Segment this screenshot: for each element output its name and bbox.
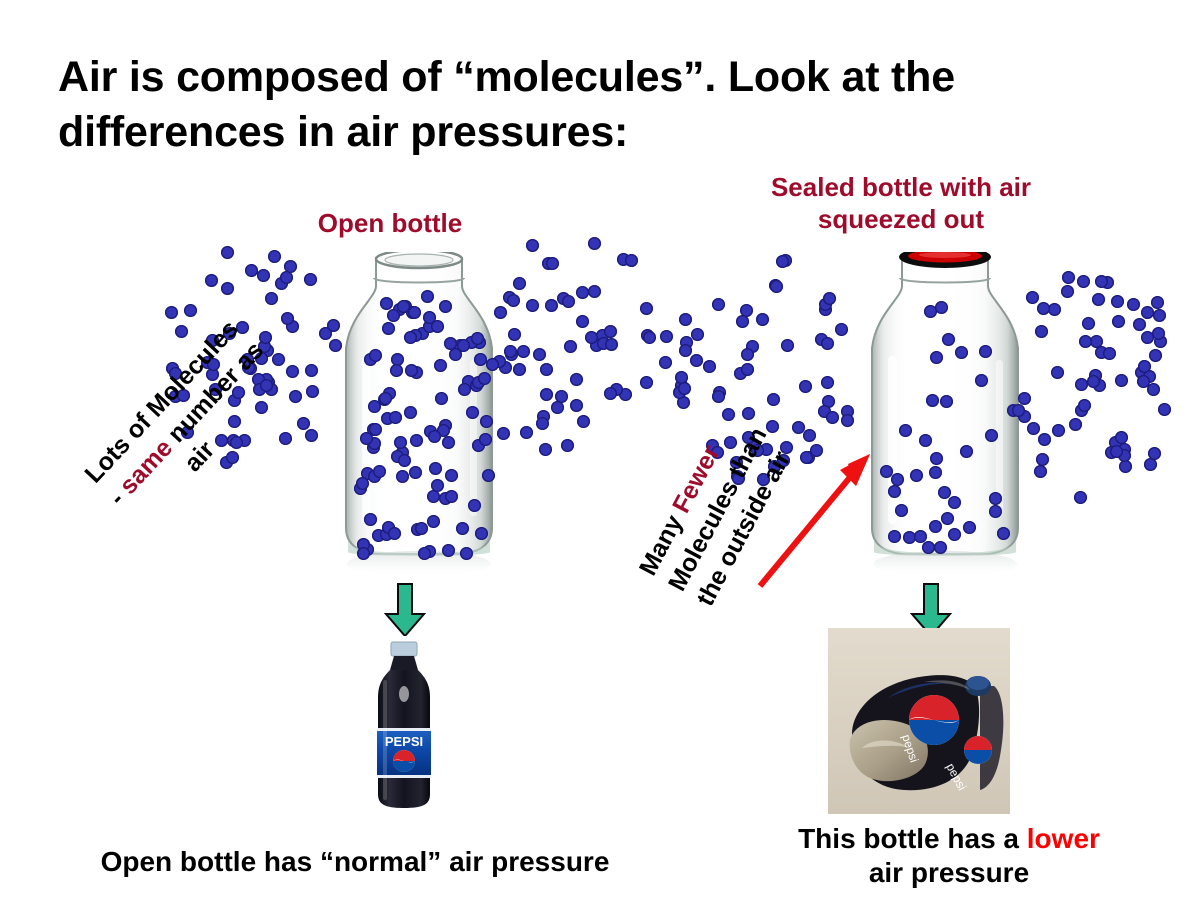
molecule-dot [434,359,447,372]
molecule-dot [442,544,455,557]
molecule-dot [619,388,632,401]
molecule-dot [610,383,623,396]
green-down-arrow-icon [384,582,426,638]
molecule-dot [821,376,834,389]
molecule-dot [675,379,688,392]
molecule-dot [1153,309,1166,322]
molecule-dot [576,286,589,299]
molecule-dot [286,320,299,333]
molecule-dot [677,396,690,409]
molecule-dot [819,303,832,316]
molecule-dot [475,527,488,540]
molecule-dot [1052,424,1065,437]
molecule-dot [899,424,912,437]
molecule-dot [468,499,481,512]
molecule-dot [281,312,294,325]
molecule-dot [948,496,961,509]
molecule-dot [1061,285,1074,298]
molecule-dot [1089,369,1102,382]
molecule-dot [357,547,370,560]
molecule-dot [1077,275,1090,288]
molecule-dot [279,432,292,445]
molecule-dot [297,417,310,430]
molecule-dot [474,353,487,366]
molecule-dot [1158,403,1171,416]
molecule-dot [776,255,789,268]
crushed-pepsi-bottle-photo: pepsi pepsi [828,628,1010,814]
molecule-dot [373,465,386,478]
molecule-dot [394,436,407,449]
molecule-dot [540,363,553,376]
molecule-dot [1149,349,1162,362]
molecule-dot [1154,335,1167,348]
molecule-dot [989,492,1002,505]
molecule-dot [948,528,961,541]
molecule-dot [410,434,423,447]
molecule-dot [396,470,409,483]
molecule-dot [280,271,293,284]
molecule-dot [588,237,601,250]
molecule-dot [1141,306,1154,319]
molecule-dot [1069,418,1082,431]
molecule-dot [551,401,564,414]
molecule-dot [275,277,288,290]
molecule-dot [604,325,617,338]
molecule-dot [421,290,434,303]
molecule-dot [1048,303,1061,316]
molecule-dot [404,331,417,344]
molecule-dot [742,407,755,420]
molecule-dot [963,521,976,534]
molecule-dot [640,302,653,315]
molecule-dot [387,309,400,322]
molecule-dot [640,376,653,389]
molecule-dot [740,304,753,317]
molecule-dot [423,311,436,324]
molecule-dot [888,485,901,498]
molecule-dot [792,421,805,434]
molecule-dot [259,331,272,344]
molecule-dot [570,373,583,386]
molecule-dot [1078,399,1091,412]
molecule-dot [766,420,779,433]
pepsi-wordmark: PEPSI [385,734,423,749]
molecule-dot [673,386,686,399]
molecule-dot [545,299,558,312]
molecule-dot [536,417,549,430]
molecule-dot [822,395,835,408]
molecule-dot [746,340,759,353]
molecule-dot [265,292,278,305]
molecule-dot [380,297,393,310]
molecule-dot [533,348,546,361]
right-bottom-caption: This bottle has a lower air pressure [716,822,1182,890]
molecule-dot [888,530,901,543]
molecule-dot [821,337,834,350]
molecule-dot [1118,443,1131,456]
molecule-dot [431,479,444,492]
molecule-dot [975,374,988,387]
molecule-dot [1095,275,1108,288]
molecule-dot [482,469,495,482]
molecule-dot [284,260,297,273]
molecule-dot [429,462,442,475]
molecule-dot [1137,375,1150,388]
molecule-dot [675,371,688,384]
left-bottom-caption: Open bottle has “normal” air pressure [30,845,680,879]
molecule-dot [955,346,968,359]
molecule-dot [562,295,575,308]
molecule-dot [891,473,904,486]
molecule-dot [929,466,942,479]
molecule-dot [1127,298,1140,311]
right-heading-line2: squeezed out [818,204,984,234]
molecule-dot [1105,446,1118,459]
molecule-dot [679,344,692,357]
molecule-dot [659,356,672,369]
molecule-dot [919,434,932,447]
molecule-dot [470,379,483,392]
molecule-dot [660,330,673,343]
molecule-dot [221,246,234,259]
molecule-dot [561,439,574,452]
molecule-dot [1062,271,1075,284]
molecule-dot [741,363,754,376]
molecule-dot [540,388,553,401]
molecule-dot [1082,317,1095,330]
molecule-dot [604,387,617,400]
molecule-dot [542,257,555,270]
molecule-dot [557,292,570,305]
molecule-dot [818,405,831,418]
slide-canvas: Air is composed of “molecules”. Look at … [0,0,1198,898]
molecule-dot [712,390,725,403]
molecule-dot [997,527,1010,540]
molecule-dot [1152,327,1165,340]
molecule-dot [770,280,783,293]
right-caption-emphasis: lower [1027,823,1100,854]
molecule-dot [1119,460,1132,473]
molecule-dot [741,348,754,361]
molecule-dot [679,313,692,326]
molecule-dot [597,337,610,350]
molecule-dot [680,336,693,349]
molecule-dot [1147,383,1160,396]
molecule-dot [1115,374,1128,387]
molecule-dot [442,436,455,449]
molecule-dot [690,354,703,367]
molecule-dot [221,282,234,295]
molecule-dot [643,331,656,344]
molecule-dot [205,274,218,287]
right-heading-line1: Sealed bottle with air [771,172,1031,202]
molecule-dot [1090,335,1103,348]
molecule-dot [408,306,421,319]
molecule-dot [1115,431,1128,444]
molecule-dot [691,328,704,341]
molecule-dot [356,477,369,490]
molecule-dot [1051,366,1064,379]
molecule-dot [1118,449,1131,462]
molecule-dot [596,329,609,342]
molecule-dot [585,331,598,344]
molecule-dot [815,333,828,346]
molecule-dot [769,279,782,292]
molecule-dot [1079,335,1092,348]
molecule-dot [415,522,428,535]
molecule-dot [1148,447,1161,460]
molecule-dot [289,390,302,403]
molecule-dot [226,451,239,464]
left-annotation-note: Lots of Molecules - same number as air [78,313,294,535]
molecule-dot [960,445,973,458]
molecule-dot [369,349,382,362]
molecule-dot [555,390,568,403]
molecule-dot [245,264,258,277]
molecule-dot [1103,347,1116,360]
molecule-dot [736,315,749,328]
molecule-dot [360,432,373,445]
molecule-dot [404,406,417,419]
open-bottle-illustration [314,252,524,582]
molecule-dot [539,443,552,456]
molecule-dot [268,250,281,263]
red-pointer-arrow-icon [744,436,884,596]
molecule-dot [1092,293,1105,306]
molecule-dot [458,383,471,396]
molecule-dot [1109,436,1122,449]
molecule-dot [427,490,440,503]
molecule-dot [756,313,769,326]
molecule-dot [570,399,583,412]
molecule-dot [537,410,550,423]
intact-pepsi-bottle-photo: PEPSI [358,636,450,814]
molecule-dot [1095,346,1108,359]
molecule-dot [588,285,601,298]
molecule-dot [590,339,603,352]
molecule-dot [1111,295,1124,308]
molecule-dot [823,292,836,305]
molecule-dot [564,340,577,353]
molecule-dot [220,456,233,469]
molecule-dot [910,469,923,482]
molecule-dot [1151,296,1164,309]
molecule-dot [826,411,839,424]
molecule-dot [641,329,654,342]
molecule-dot [617,253,630,266]
molecule-dot [819,298,832,311]
molecule-dot [577,415,590,428]
molecule-dot [1141,331,1154,344]
molecule-dot [1135,366,1148,379]
molecule-dot [526,239,539,252]
molecule-dot [1093,379,1106,392]
molecule-dot [914,530,927,543]
left-panel-heading: Open bottle [240,208,540,240]
molecule-dot [767,393,780,406]
molecule-dot [1144,458,1157,471]
molecule-dot [713,386,726,399]
molecule-dot [1143,370,1156,383]
molecule-dot [405,364,418,377]
molecule-dot [930,452,943,465]
molecule-dot [576,315,589,328]
molecule-dot [1133,318,1146,331]
molecule-dot [734,367,747,380]
molecule-dot [165,306,178,319]
molecule-dot [625,254,638,267]
molecule-dot [712,298,725,311]
molecule-dot [1074,491,1087,504]
molecule-dot [379,392,392,405]
molecule-dot [1110,445,1123,458]
molecule-dot [799,380,812,393]
molecule-dot [175,325,188,338]
page-title: Air is composed of “molecules”. Look at … [58,50,1148,160]
molecule-dot [779,254,792,267]
molecule-dot [1087,375,1100,388]
molecule-dot [605,338,618,351]
molecule-dot [546,257,559,270]
molecule-dot [985,429,998,442]
molecule-dot [184,304,197,317]
right-panel-heading: Sealed bottle with air squeezed out [706,172,1096,235]
molecule-dot [1112,315,1125,328]
molecule-dot [1075,404,1088,417]
molecule-dot [479,433,492,446]
molecule-dot [703,360,716,373]
right-caption-prefix: This bottle has a [798,823,1027,854]
molecule-dot [1075,378,1088,391]
molecule-dot [678,382,691,395]
molecule-dot [1101,276,1114,289]
molecule-dot [257,269,270,282]
molecule-dot [390,364,403,377]
right-caption-line2: air pressure [869,857,1029,888]
molecule-dot [456,522,469,535]
molecule-dot [941,512,954,525]
molecule-dot [526,299,539,312]
molecule-dot [1138,360,1151,373]
molecule-dot [781,339,794,352]
molecule-dot [409,466,422,479]
